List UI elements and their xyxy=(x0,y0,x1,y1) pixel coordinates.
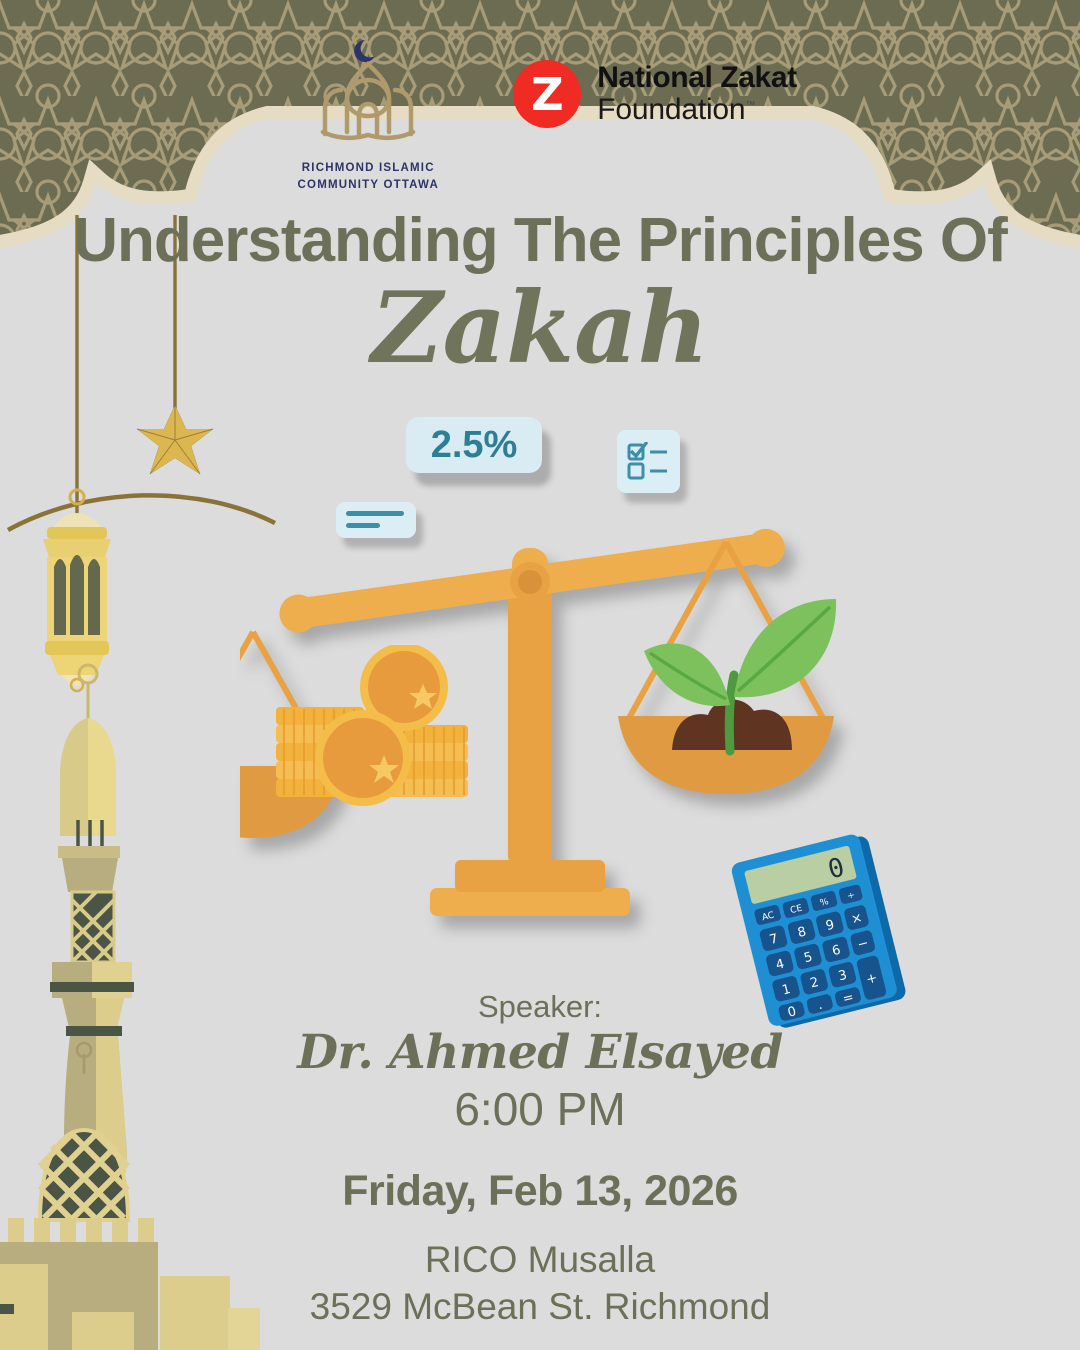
mosque-dome-icon xyxy=(303,34,433,152)
stacked-gold-coins-icon xyxy=(258,645,498,830)
event-address: 3529 McBean St. Richmond xyxy=(0,1284,1080,1330)
checklist-card-icon xyxy=(617,430,680,493)
trademark-symbol: ™ xyxy=(745,100,755,111)
hanging-star-icon xyxy=(137,405,213,474)
crescent-coin-lower xyxy=(315,710,411,806)
nzf-logo-line2: Foundation xyxy=(597,93,745,126)
rico-logo-line1: RICHMOND ISLAMIC xyxy=(298,160,439,177)
title-line-1: Understanding The Principles Of xyxy=(0,205,1080,276)
event-time: 6:00 PM xyxy=(0,1083,1080,1136)
page-title: Understanding The Principles Of Zakah xyxy=(0,205,1080,381)
nzf-logo: Z National Zakat Foundation™ xyxy=(513,60,796,128)
zakah-event-poster: RICHMOND ISLAMIC COMMUNITY OTTAWA Z Nati… xyxy=(0,0,1080,1350)
speaker-name: Dr. Ahmed Elsayed xyxy=(0,1024,1080,1083)
crescent-moon-icon xyxy=(354,40,375,62)
document-lines-card-icon xyxy=(336,502,416,538)
seedling-in-soil-icon xyxy=(630,575,850,775)
event-details: Speaker: Dr. Ahmed Elsayed 6:00 PM Frida… xyxy=(0,990,1080,1330)
event-date: Friday, Feb 13, 2026 xyxy=(0,1166,1080,1218)
zakat-rate-badge: 2.5% xyxy=(406,417,542,473)
title-line-2: Zakah xyxy=(0,278,1080,381)
logo-row: RICHMOND ISLAMIC COMMUNITY OTTAWA Z Nati… xyxy=(0,34,1080,193)
rico-logo: RICHMOND ISLAMIC COMMUNITY OTTAWA xyxy=(283,34,453,193)
speaker-label: Speaker: xyxy=(0,990,1080,1024)
event-venue: RICO Musalla xyxy=(0,1237,1080,1283)
nzf-logo-line1: National Zakat xyxy=(597,62,796,94)
rico-logo-line2: COMMUNITY OTTAWA xyxy=(298,177,439,194)
nzf-monogram-badge: Z xyxy=(513,60,581,128)
